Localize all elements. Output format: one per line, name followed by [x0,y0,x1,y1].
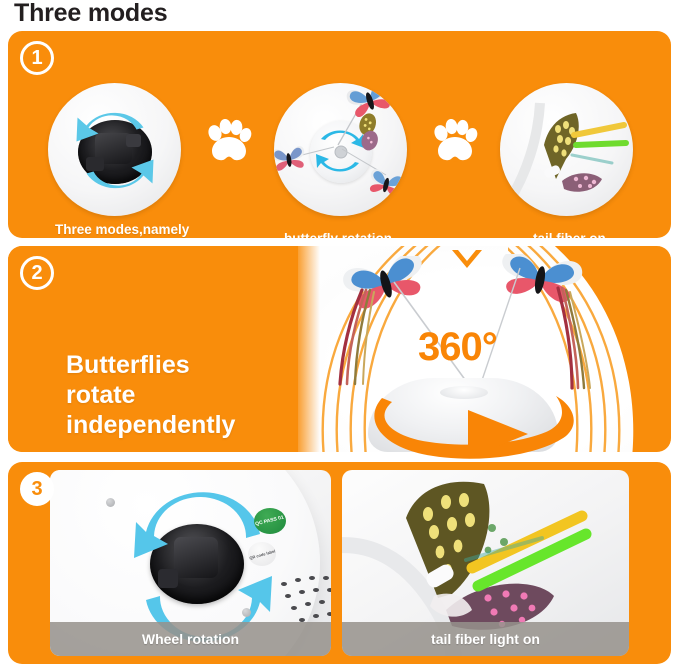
wheel-rotation-card: QC PASS 01 QR code label Wheel rotation [50,470,331,656]
screw-top [106,498,115,507]
qr-code-sticker: QR code label [248,542,276,566]
wheel-and-fiber-panel: 3 QC PASS 01 QR code label [8,462,671,664]
three-modes-panel: 1 [8,31,671,238]
tail-fiber-photo [500,83,633,216]
card-caption-bar: tail fiber light on [342,622,629,656]
butterfly-left [274,143,308,177]
caption-line-1: Three modes,namely [55,221,265,238]
page-title: Three modes [14,0,167,28]
infographic-page: Three modes 1 [0,0,679,670]
qc-pass-sticker: QC PASS 01 [254,508,286,534]
panel2-headline: Butterflies rotate independently [66,350,286,440]
rotation-arrow-360 [360,372,590,464]
wheel-rotation-photo [48,83,181,216]
tail-fiber-graphic [500,83,633,216]
rotation-arrows-icon [48,83,181,216]
paw-print-icon [432,119,478,163]
feather-butterfly [352,113,386,153]
headline-line-3: independently [66,410,286,440]
panel-number-badge-2: 2 [20,256,54,290]
panel-number-badge-1: 1 [20,41,54,75]
caption-tail-fiber-on: tail fiber on [533,230,671,238]
speaker-grille-icon [276,576,331,628]
card-caption-bar: Wheel rotation [50,622,331,656]
screw-bottom [242,608,251,617]
headline-line-2: rotate [66,380,286,410]
butterfly-right [366,167,406,203]
panel-number-badge-3: 3 [20,472,54,506]
degree-label: 360° [418,325,497,370]
caption-tail-fiber-light-on: tail fiber light on [431,631,540,647]
qr-code-sticker-text: QR code label [248,548,275,560]
caption-wheel-rotation: Three modes,namely wheel rotation [55,221,265,238]
caption-wheel-rotation: Wheel rotation [142,631,239,647]
caption-butterfly-rotation: butterfly rotation [284,230,464,238]
qc-pass-sticker-text: QC PASS 01 [255,515,285,528]
paw-print-icon [206,119,252,163]
tail-fiber-card: tail fiber light on [342,470,629,656]
headline-line-1: Butterflies [66,350,286,380]
butterfly-rotation-photo [274,83,407,216]
